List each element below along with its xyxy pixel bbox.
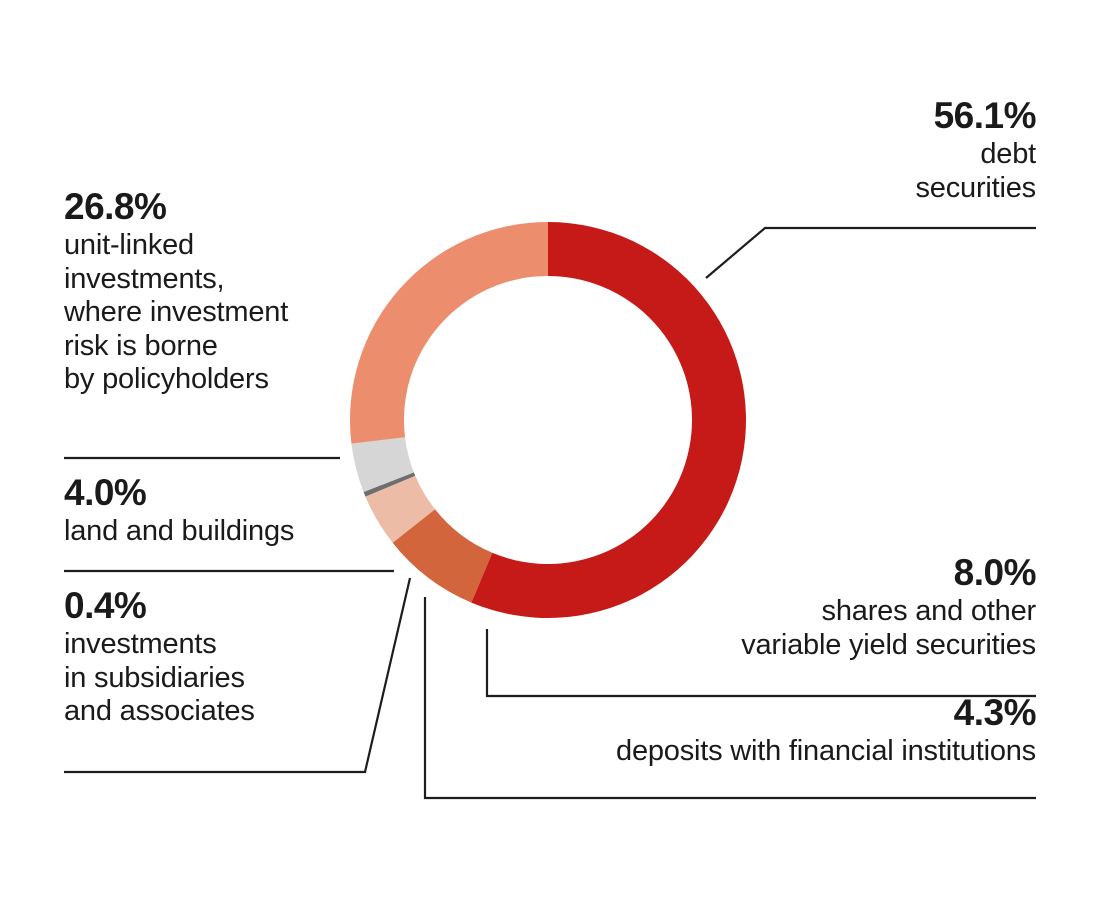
label-land-and-buildings: 4.0% land and buildings [64, 472, 364, 549]
label-shares-line1: shares and other [640, 595, 1036, 629]
label-unit-linked-line2: investments, [64, 263, 364, 297]
label-shares-percent: 8.0% [640, 552, 1036, 595]
label-subs-line1: investments [64, 628, 364, 662]
label-investments-in-subsidiaries: 0.4% investments in subsidiaries and ass… [64, 585, 364, 729]
label-unit-linked-percent: 26.8% [64, 186, 364, 229]
label-shares-line2: variable yield securities [640, 629, 1036, 663]
label-debt-line2: securities [700, 172, 1036, 206]
label-subs-percent: 0.4% [64, 585, 364, 628]
label-land-percent: 4.0% [64, 472, 364, 515]
label-shares-variable-yield: 8.0% shares and other variable yield sec… [640, 552, 1036, 662]
label-deposits-line1: deposits with financial institutions [500, 735, 1036, 769]
label-deposits-financial-institutions: 4.3% deposits with financial institution… [500, 692, 1036, 769]
chart-canvas: 56.1% debt securities 8.0% shares and ot… [0, 0, 1100, 900]
label-unit-linked-line1: unit-linked [64, 229, 364, 263]
label-unit-linked-investments: 26.8% unit-linked investments, where inv… [64, 186, 364, 397]
label-debt-securities: 56.1% debt securities [700, 95, 1036, 205]
label-debt-percent: 56.1% [700, 95, 1036, 138]
label-unit-linked-line5: by policyholders [64, 363, 364, 397]
label-deposits-percent: 4.3% [500, 692, 1036, 735]
label-debt-line1: debt [700, 138, 1036, 172]
label-unit-linked-line4: risk is borne [64, 330, 364, 364]
label-land-line1: land and buildings [64, 515, 364, 549]
label-unit-linked-line3: where investment [64, 296, 364, 330]
label-subs-line3: and associates [64, 695, 364, 729]
donut-slice [350, 222, 548, 444]
label-subs-line2: in subsidiaries [64, 662, 364, 696]
leader-line-debt [706, 228, 1036, 278]
